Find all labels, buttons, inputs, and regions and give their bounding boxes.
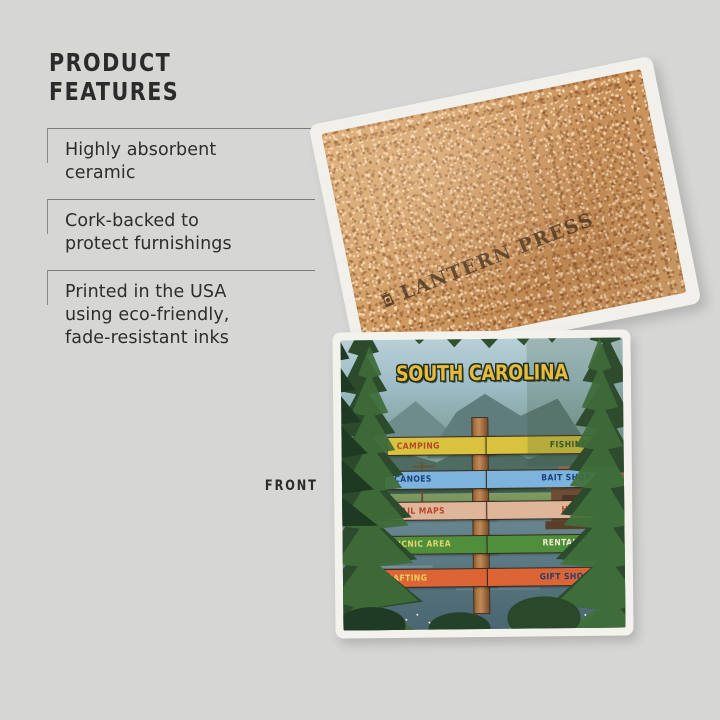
- artwork-title: SOUTH CAROLINA: [351, 359, 613, 386]
- cork-speck: [529, 140, 532, 143]
- coaster-back-view[interactable]: LANTERN PRESS: [308, 56, 701, 373]
- feature-tick-mark: [47, 128, 48, 163]
- feature-tick-mark: [47, 199, 48, 234]
- front-label: FRONT: [265, 478, 318, 494]
- sign-label: RAFTING: [387, 573, 428, 583]
- sign-trail-maps[interactable]: TRAIL MAPS: [379, 501, 498, 521]
- brand-logo: LANTERN PRESS: [377, 208, 597, 312]
- sign-label: CAMPING: [397, 441, 440, 451]
- foreground-bush: [507, 596, 581, 630]
- sign-label: FISHING: [550, 440, 588, 450]
- coaster-front-view[interactable]: CAMPING FISHING CANOES BAIT SHOP TRAIL M…: [332, 329, 633, 638]
- sign-label: HIKING: [561, 505, 594, 515]
- sign-picnic-area[interactable]: PICNIC AREA: [382, 535, 498, 555]
- cork-backing-surface: LANTERN PRESS: [321, 69, 686, 357]
- sign-hiking[interactable]: HIKING: [486, 500, 605, 520]
- sign-label: TRAIL MAPS: [389, 506, 445, 517]
- page-title: PRODUCT FEATURES: [49, 48, 294, 106]
- feature-text: Cork-backed to protect furnishings: [65, 210, 315, 256]
- feature-item: Cork-backed to protect furnishings: [47, 199, 315, 270]
- sign-camping[interactable]: CAMPING: [387, 436, 497, 456]
- feature-divider-line: [47, 128, 315, 129]
- cork-speck: [601, 230, 604, 232]
- sign-bait-shop[interactable]: BAIT SHOP: [486, 468, 602, 488]
- feature-item: Printed in the USA using eco-friendly, f…: [47, 270, 315, 364]
- feature-item: Highly absorbent ceramic: [47, 128, 315, 199]
- feature-text: Printed in the USA using eco-friendly, f…: [65, 281, 315, 350]
- lantern-icon: [378, 289, 398, 310]
- sign-label: CANOES: [394, 475, 432, 485]
- sign-rafting[interactable]: RAFTING: [377, 568, 498, 588]
- utility-pole-crossbar: [412, 466, 435, 468]
- wildflower: [428, 622, 430, 624]
- sign-label: RENTALS: [542, 538, 583, 548]
- sign-canoes[interactable]: CANOES: [384, 469, 497, 489]
- sign-label: PICNIC AREA: [392, 540, 451, 551]
- lodge-porch: [545, 520, 625, 530]
- feature-text: Highly absorbent ceramic: [65, 139, 315, 185]
- product-listing-canvas: PRODUCT FEATURES Highly absorbent cerami…: [0, 0, 720, 720]
- feature-tick-mark: [47, 270, 48, 305]
- feature-divider-line: [47, 199, 315, 200]
- cork-speck: [489, 190, 491, 192]
- brand-name: LANTERN PRESS: [397, 208, 597, 304]
- sign-rentals[interactable]: RENTALS: [486, 534, 593, 554]
- product-features-panel: PRODUCT FEATURES Highly absorbent cerami…: [47, 48, 315, 364]
- sign-fishing[interactable]: FISHING: [485, 435, 598, 455]
- feature-divider-line: [47, 270, 315, 271]
- sign-label: GIFT SHOP: [540, 571, 590, 582]
- coaster-artwork: CAMPING FISHING CANOES BAIT SHOP TRAIL M…: [340, 338, 625, 631]
- sign-label: BAIT SHOP: [541, 473, 591, 484]
- sign-gift-shop[interactable]: GIFT SHOP: [487, 567, 600, 587]
